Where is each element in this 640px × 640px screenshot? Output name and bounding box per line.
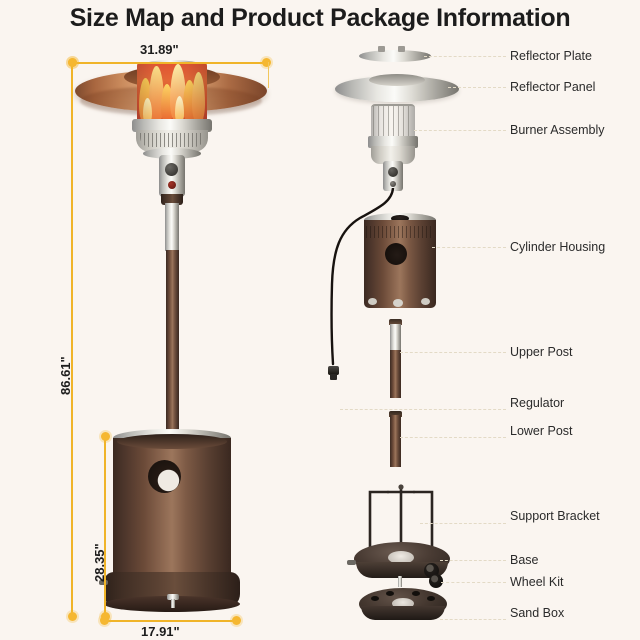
part-burner-knob: [388, 167, 398, 177]
dim-top-width-ext-right: [268, 62, 269, 88]
regulator-nut: [330, 374, 337, 380]
sand-box-hole-2: [386, 591, 394, 596]
page-title: Size Map and Product Package Information: [0, 4, 640, 33]
part-label-upper-post: Upper Post: [510, 345, 573, 359]
dim-top-width-dot-right: [262, 58, 271, 67]
dim-base-height-text: 28.35": [92, 543, 107, 582]
burner-vent-slots: [140, 133, 204, 147]
sand-box-hole-1: [371, 596, 379, 601]
dim-base-width-text: 17.91": [141, 624, 180, 639]
dim-top-width-line: [72, 62, 270, 64]
reflector-panel-hub: [369, 74, 425, 86]
indicator-light: [168, 181, 176, 189]
part-label-wheel-kit: Wheel Kit: [510, 575, 564, 589]
part-label-reflector-panel: Reflector Panel: [510, 80, 595, 94]
part-label-support-bracket: Support Bracket: [510, 509, 600, 523]
leader-reflector-panel: [448, 87, 506, 88]
leader-base: [440, 560, 506, 561]
part-upper-post-lower: [390, 350, 401, 398]
part-housing-foot-center: [393, 299, 403, 307]
cylinder-housing-assembled: [113, 438, 231, 583]
dim-base-width-dot-left: [100, 616, 109, 625]
housing-drain-stem: [171, 599, 175, 608]
ignition-knob: [165, 163, 178, 176]
part-label-burner-assembly: Burner Assembly: [510, 123, 604, 137]
sand-box-hole-4: [427, 596, 435, 601]
leader-regulator: [340, 409, 506, 410]
part-housing-foot-left: [368, 298, 377, 305]
leader-support-bracket: [420, 523, 506, 524]
burner-glass-vertical-lines: [373, 106, 413, 136]
part-upper-post: [390, 324, 401, 352]
reflector-plate-bracket-right: [398, 46, 405, 52]
dim-total-height-line: [71, 62, 73, 618]
dim-base-width-line: [104, 620, 237, 622]
dim-top-width-text: 31.89": [140, 42, 179, 57]
leader-lower-post: [400, 437, 506, 438]
leader-upper-post: [400, 352, 506, 353]
sand-box-hole-3: [412, 591, 420, 596]
part-sand-box-skirt: [361, 606, 445, 620]
part-label-lower-post: Lower Post: [510, 424, 573, 438]
part-housing-foot-right: [421, 298, 430, 305]
part-label-sand-box: Sand Box: [510, 606, 564, 620]
dim-total-height-dot-top: [68, 58, 77, 67]
control-panel-assembled: [159, 155, 185, 197]
part-label-regulator: Regulator: [510, 396, 564, 410]
leader-sand-box: [440, 619, 506, 620]
lower-post-assembled: [166, 250, 179, 435]
housing-access-hole: [148, 460, 181, 493]
burner-glass-sheen: [137, 62, 207, 124]
base-bolt-stem: [398, 576, 402, 587]
part-housing-access-hole: [385, 243, 407, 265]
part-label-cylinder-housing: Cylinder Housing: [510, 240, 605, 254]
base-side-tab: [347, 560, 356, 565]
part-burner-indicator: [390, 181, 396, 187]
dim-base-height-line: [104, 436, 106, 618]
reflector-plate-bracket-left: [378, 46, 385, 52]
part-lower-post: [390, 415, 401, 467]
dim-total-height-text: 86.61": [58, 356, 73, 395]
dim-total-height-dot-bottom: [68, 612, 77, 621]
part-reflector-plate: [359, 50, 431, 62]
dim-base-height-dot-top: [101, 432, 110, 441]
part-label-reflector-plate: Reflector Plate: [510, 49, 592, 63]
product-size-map-page: Size Map and Product Package Information: [0, 0, 640, 640]
leader-burner-assembly: [414, 130, 506, 131]
part-wheel-kit-wheel-bottom: [429, 574, 443, 588]
upper-post-assembled: [165, 203, 179, 251]
leader-reflector-plate: [424, 56, 506, 57]
leader-wheel-kit: [441, 582, 506, 583]
part-label-base: Base: [510, 553, 539, 567]
dim-base-width-dot-right: [232, 616, 241, 625]
part-housing-vent-band: [366, 226, 434, 238]
leader-cylinder-housing: [432, 247, 506, 248]
housing-top-inner: [117, 434, 227, 449]
